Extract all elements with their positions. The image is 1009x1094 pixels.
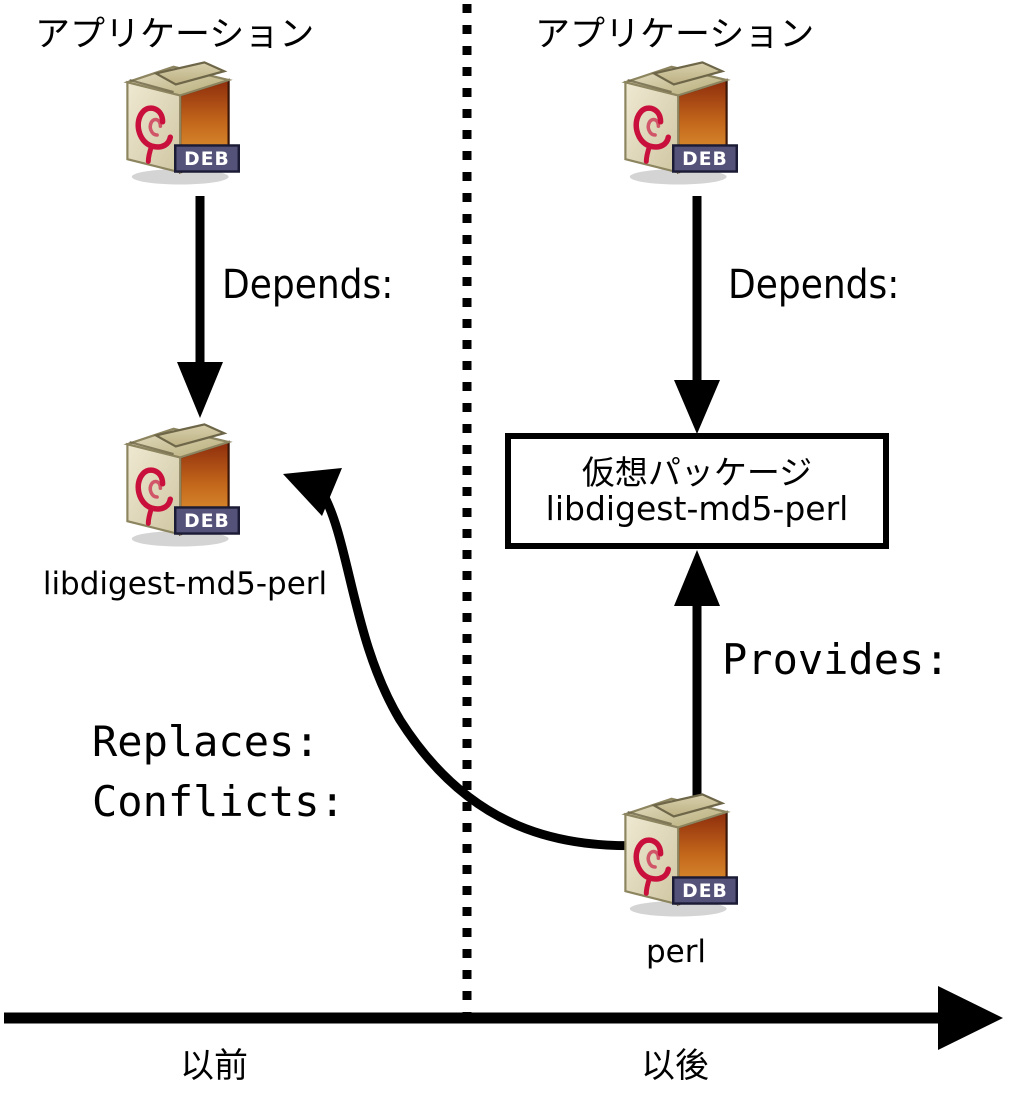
left-depends-label: Depends: bbox=[222, 262, 393, 308]
conflicts-label: Conflicts: bbox=[92, 778, 345, 825]
right-column-title: アプリケーション bbox=[535, 6, 814, 57]
era-after-label: 以後 bbox=[641, 1038, 709, 1087]
virtual-package-box: 仮想パッケージ libdigest-md5-perl bbox=[505, 433, 889, 549]
left-libdigest-package-label: libdigest-md5-perl bbox=[20, 566, 350, 602]
era-before-label: 以前 bbox=[180, 1038, 248, 1087]
right-perl-package-label: perl bbox=[581, 934, 771, 970]
virtual-package-line1: 仮想パッケージ bbox=[582, 455, 812, 491]
right-depends-label: Depends: bbox=[728, 262, 899, 308]
provides-label: Provides: bbox=[722, 636, 950, 683]
virtual-package-line2: libdigest-md5-perl bbox=[546, 491, 849, 527]
diagram-canvas: DEB bbox=[0, 0, 1009, 1094]
replaces-label: Replaces: bbox=[92, 718, 320, 765]
left-column-title: アプリケーション bbox=[35, 6, 314, 57]
